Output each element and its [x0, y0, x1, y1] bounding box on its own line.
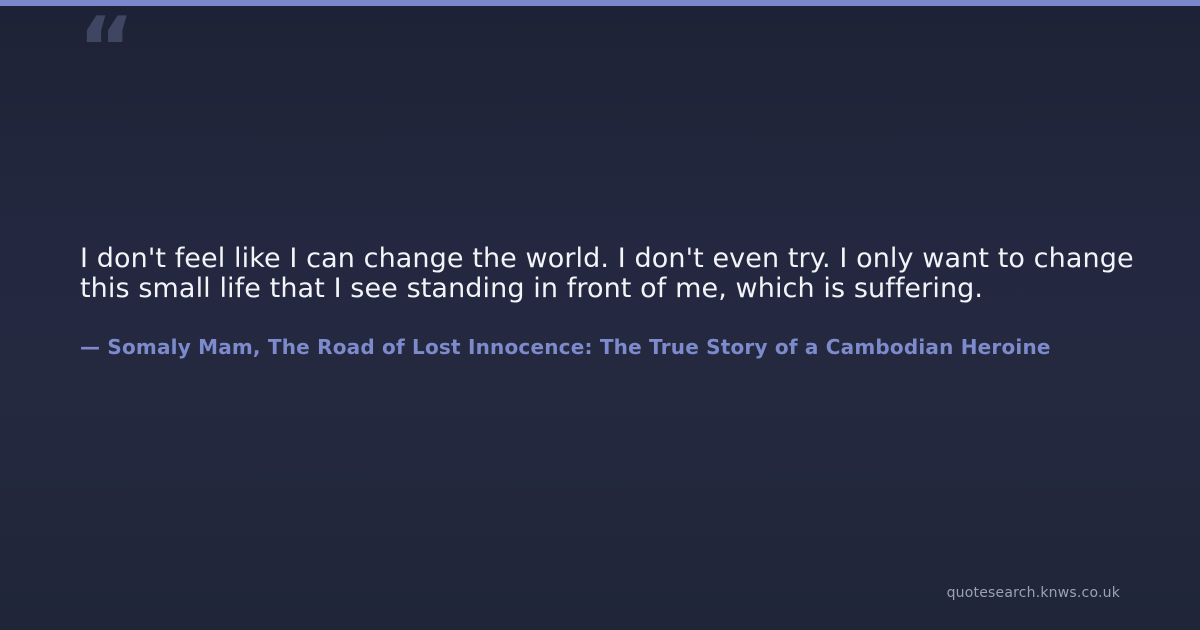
- quote-card: “ I don't feel like I can change the wor…: [0, 0, 1200, 630]
- opening-quote-icon: “: [78, 6, 133, 92]
- quote-text: I don't feel like I can change the world…: [80, 244, 1140, 304]
- top-accent-bar: [0, 0, 1200, 6]
- attribution-container: — Somaly Mam, The Road of Lost Innocence…: [80, 333, 1200, 363]
- source-url-label: quotesearch.knws.co.uk: [947, 584, 1120, 602]
- quote-body: I don't feel like I can change the world…: [80, 244, 1140, 304]
- quote-attribution: — Somaly Mam, The Road of Lost Innocence…: [80, 333, 1200, 361]
